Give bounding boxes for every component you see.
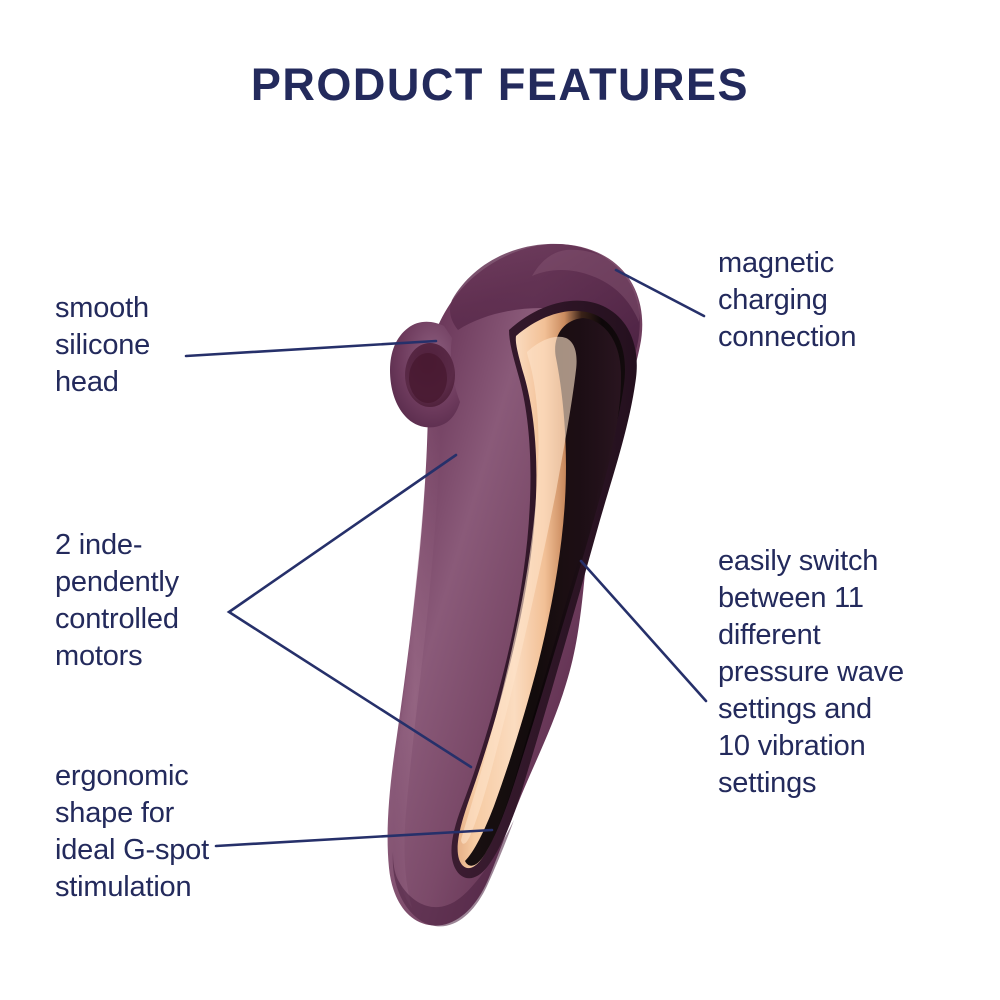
suction-hole-inner-shadow	[409, 353, 447, 403]
callout-independent-motors: 2 inde- pendently controlled motors	[55, 527, 305, 675]
callout-smooth-silicone-head: smooth silicone head	[55, 290, 305, 401]
product-features-page: PRODUCT FEATURES	[0, 0, 1000, 1000]
leader-line-switch-settings	[581, 561, 706, 701]
gold-strip-shadow	[465, 318, 621, 866]
gold-channel-rim	[451, 301, 636, 879]
suction-hole-icon	[405, 343, 455, 407]
gold-strip-highlight	[461, 337, 577, 844]
magnetic-contact-sheen	[532, 250, 639, 322]
page-title: PRODUCT FEATURES	[0, 62, 1000, 107]
body-top-shading	[450, 244, 640, 354]
callout-magnetic-charging: magnetic charging connection	[718, 245, 978, 356]
leader-line-magnetic-charging	[616, 270, 704, 316]
suction-head-nozzle	[390, 322, 460, 428]
callout-switch-settings: easily switch between 11 different press…	[718, 543, 983, 802]
gold-inset-strip	[458, 311, 625, 868]
callout-ergonomic-shape: ergonomic shape for ideal G-spot stimula…	[55, 758, 325, 906]
